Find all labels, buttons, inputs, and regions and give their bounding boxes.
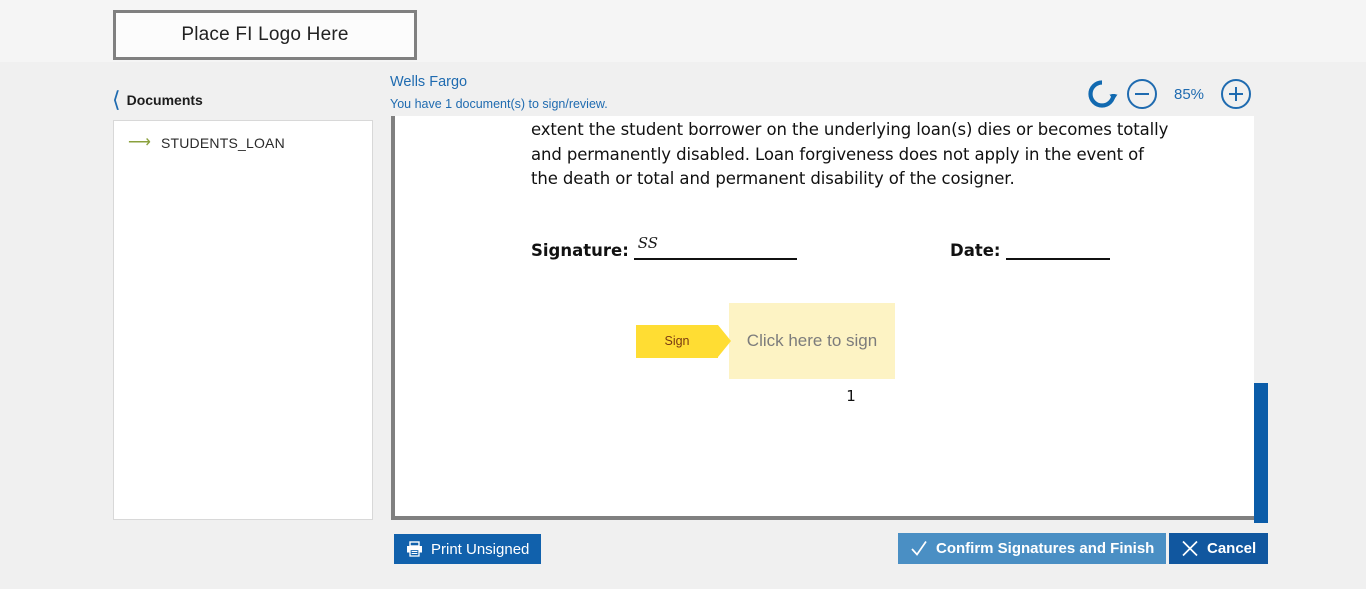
- cancel-label: Cancel: [1207, 540, 1256, 557]
- close-x-icon: [1181, 540, 1199, 557]
- zoom-controls: 85%: [1082, 74, 1256, 114]
- vertical-scrollbar-thumb[interactable]: [1254, 383, 1268, 523]
- sign-tag-label: Sign: [664, 334, 689, 348]
- signature-field-group: Signature: SS: [531, 238, 797, 260]
- signature-prompt-area: Sign Click here to sign: [636, 303, 895, 379]
- zoom-level-value: 85%: [1162, 86, 1216, 103]
- date-input[interactable]: [1006, 238, 1110, 260]
- document-page: extent the student borrower on the under…: [391, 116, 1254, 520]
- back-to-documents-link[interactable]: ⟨ Documents: [112, 92, 203, 108]
- click-here-to-sign-box[interactable]: Click here to sign: [729, 303, 895, 379]
- cancel-button[interactable]: Cancel: [1169, 533, 1268, 564]
- date-field-group: Date:: [950, 238, 1110, 260]
- document-viewer: extent the student borrower on the under…: [391, 116, 1268, 523]
- sign-tag-button[interactable]: Sign: [636, 325, 718, 358]
- date-label: Date:: [950, 241, 1001, 260]
- confirm-signatures-label: Confirm Signatures and Finish: [936, 540, 1154, 557]
- signature-input[interactable]: SS: [634, 238, 797, 260]
- print-unsigned-button[interactable]: Print Unsigned: [394, 534, 541, 564]
- signature-label: Signature:: [531, 241, 629, 260]
- vertical-scrollbar-track[interactable]: [1254, 116, 1268, 523]
- fi-logo-placeholder: Place FI Logo Here: [113, 10, 417, 60]
- plus-circle-icon: [1221, 79, 1251, 109]
- organization-name: Wells Fargo: [390, 73, 608, 92]
- date-underline: [1006, 258, 1110, 260]
- click-here-to-sign-label: Click here to sign: [747, 331, 877, 351]
- zoom-out-button[interactable]: [1122, 74, 1162, 114]
- document-info: Wells Fargo You have 1 document(s) to si…: [390, 73, 608, 113]
- signature-row: Signature: SS Date:: [531, 238, 1171, 268]
- arrow-right-icon: ⟶: [128, 135, 151, 151]
- document-name: STUDENTS_LOAN: [161, 135, 285, 151]
- document-page-content: extent the student borrower on the under…: [531, 116, 1171, 268]
- document-list-panel: ⟶ STUDENTS_LOAN: [113, 120, 373, 520]
- chevron-left-icon: ⟨: [112, 92, 121, 108]
- check-icon: [910, 540, 928, 557]
- minus-circle-icon: [1127, 79, 1157, 109]
- fi-logo-placeholder-text: Place FI Logo Here: [181, 24, 348, 46]
- print-unsigned-label: Print Unsigned: [431, 541, 529, 558]
- signature-value: SS: [638, 234, 658, 252]
- signature-underline: [634, 258, 797, 260]
- list-item[interactable]: ⟶ STUDENTS_LOAN: [114, 121, 372, 151]
- back-to-documents-label: Documents: [127, 92, 203, 108]
- document-status-text: You have 1 document(s) to sign/review.: [390, 92, 608, 113]
- document-paragraph: extent the student borrower on the under…: [531, 116, 1171, 192]
- page-number: 1: [531, 387, 1171, 405]
- logo-band: Place FI Logo Here: [0, 0, 1366, 62]
- printer-icon: [406, 541, 423, 557]
- zoom-in-button[interactable]: [1216, 74, 1256, 114]
- confirm-signatures-button[interactable]: Confirm Signatures and Finish: [898, 533, 1166, 564]
- refresh-icon[interactable]: [1082, 74, 1122, 114]
